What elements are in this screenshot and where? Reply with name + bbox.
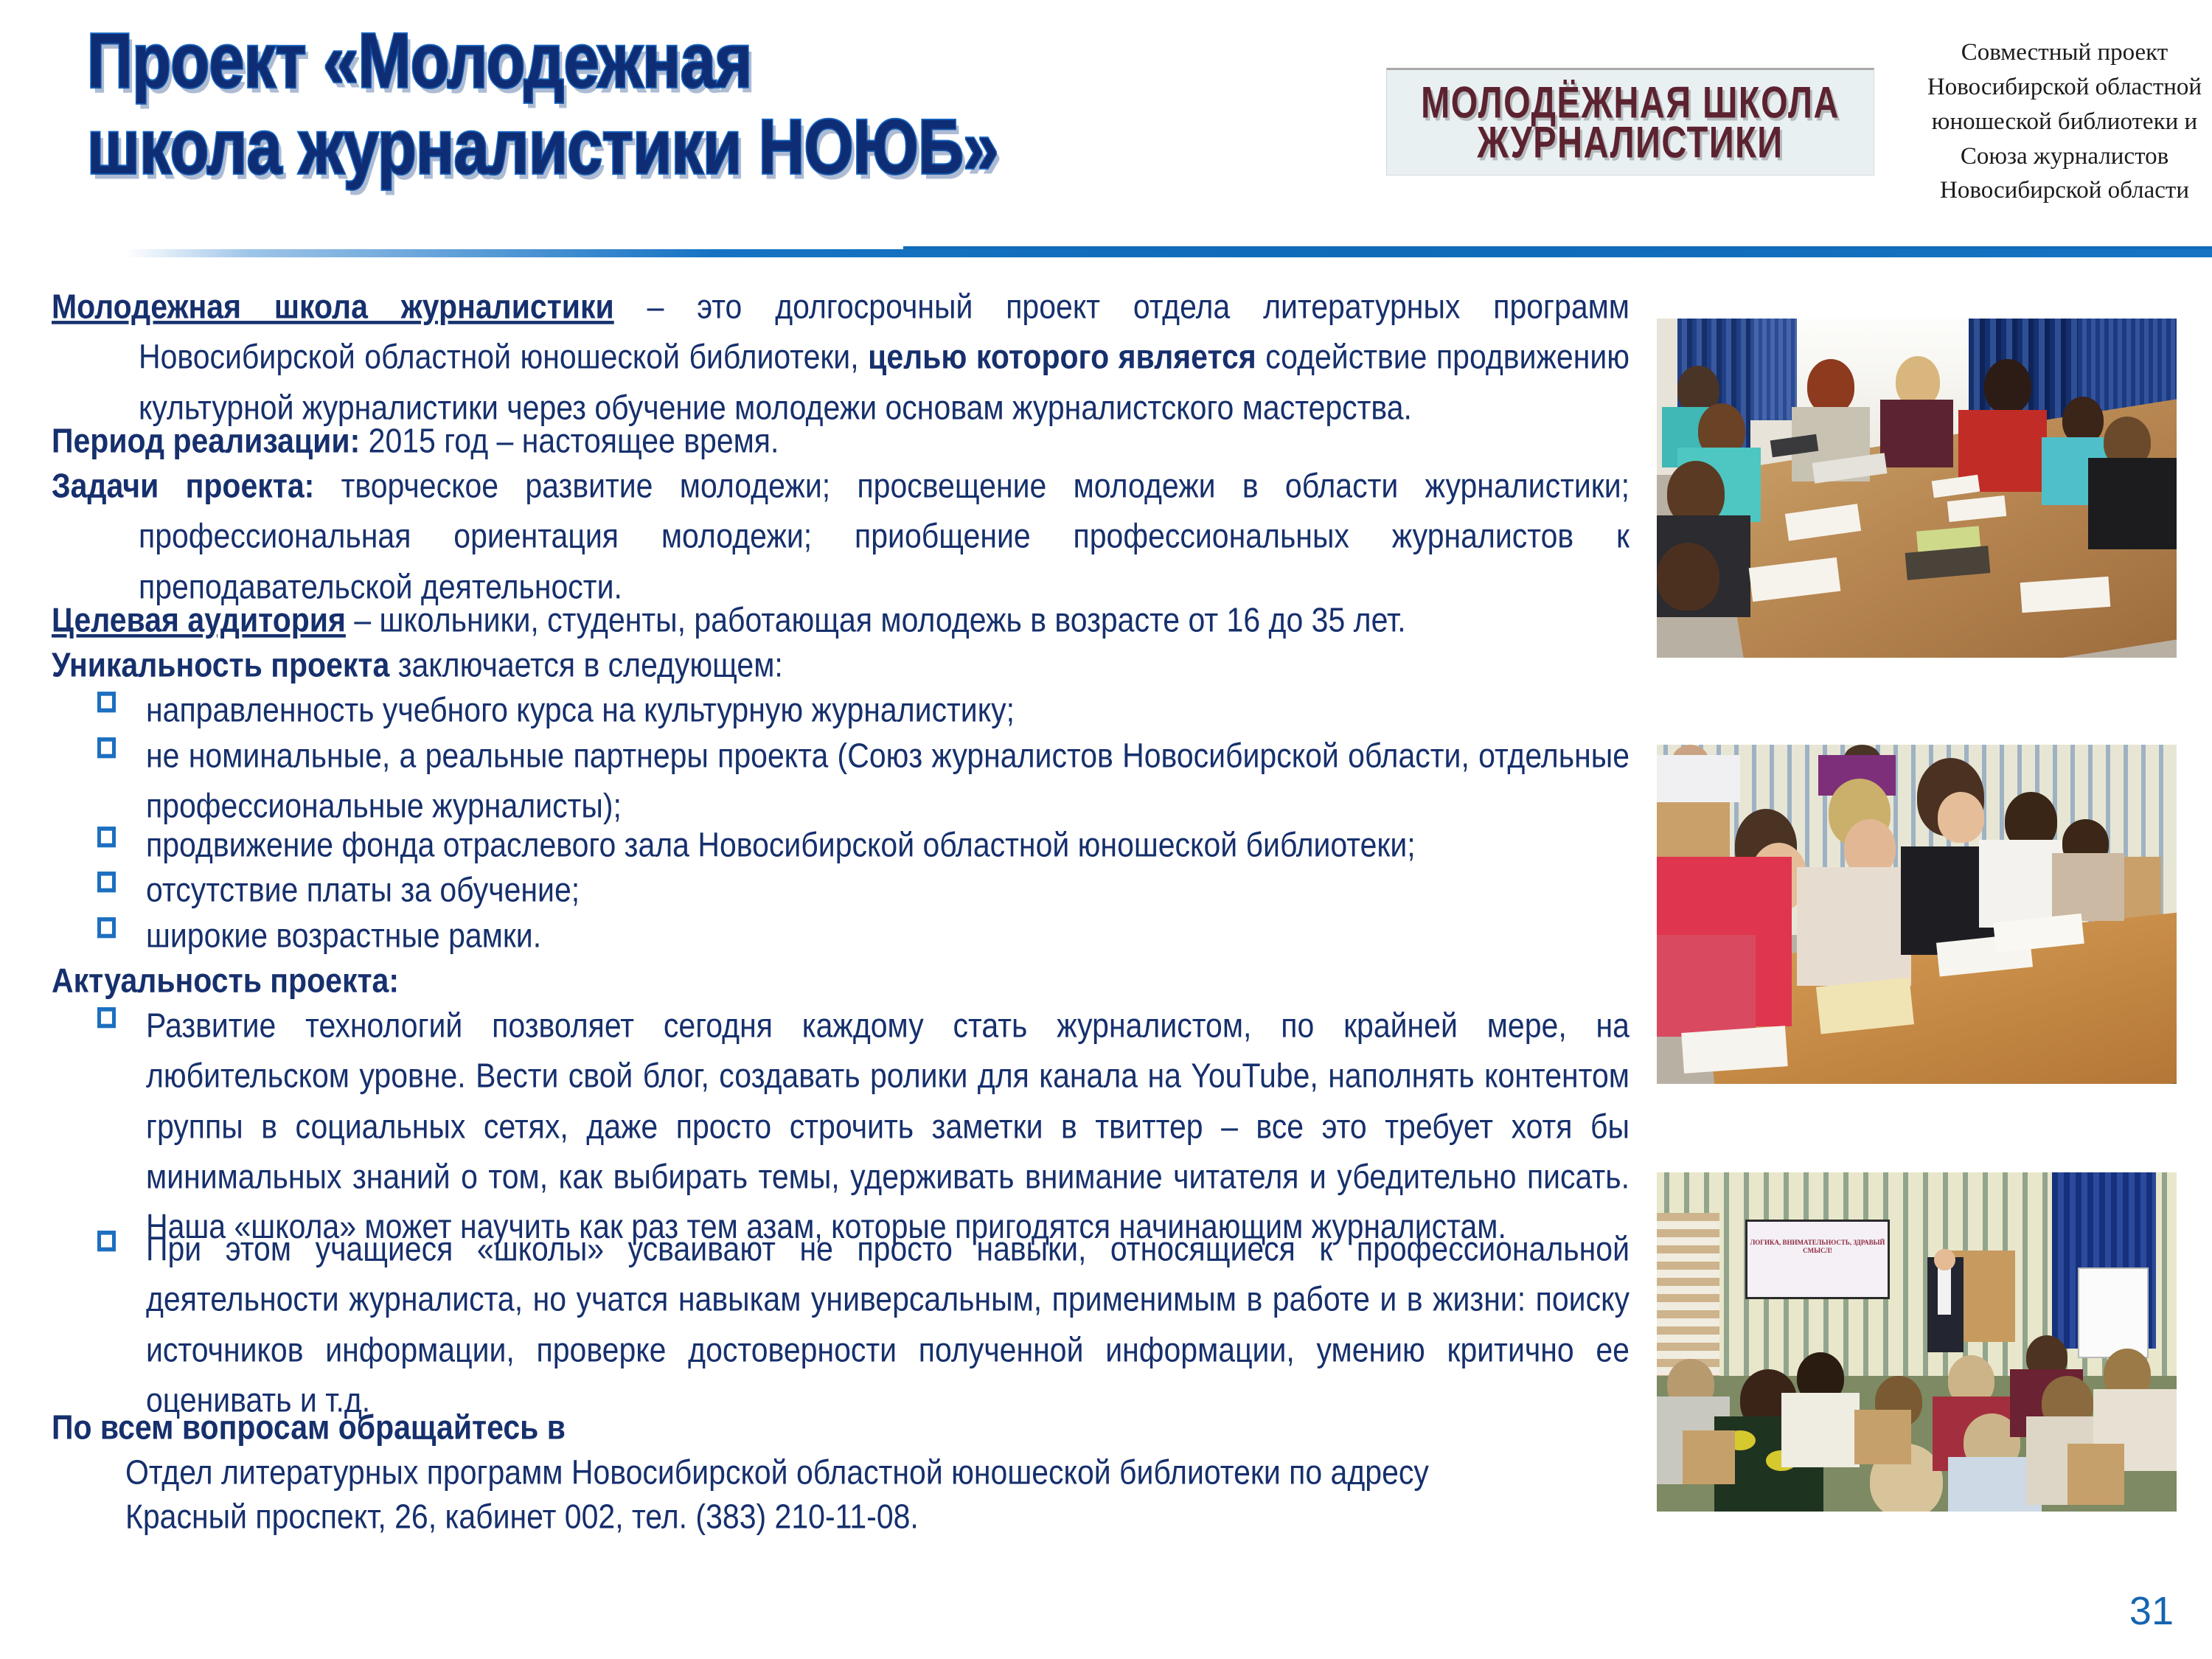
square-bullet-icon [97, 917, 116, 938]
paragraph-period: Период реализации: 2015 год – настоящее … [52, 416, 1630, 466]
paragraph-contact-heading: По всем вопросам обращайтесь в [52, 1402, 1630, 1453]
relevance-bullet-list: Развитие технологий позволяет сегодня ка… [52, 1001, 1630, 1401]
intro-lead: Молодежная школа журналистики [52, 288, 614, 326]
contact-address-line-1: Отдел литературных программ Новосибирско… [52, 1447, 1630, 1498]
square-bullet-icon [97, 1231, 116, 1251]
logo-caption: Совместный проект Новосибирской областно… [1917, 35, 2212, 208]
photo-screen-text: ЛОГИКА, ВНИМАТЕЛЬНОСТЬ, ЗДРАВЫЙ СМЫСЛ! [1747, 1239, 1888, 1256]
list-item: не номинальные, а реальные партнеры прое… [52, 731, 1630, 831]
audience-text: – школьники, студенты, работающая молоде… [346, 601, 1406, 639]
list-item: продвижение фонда отраслевого зала Новос… [52, 820, 1630, 870]
square-bullet-icon [97, 692, 116, 712]
period-lead: Период реализации: [52, 422, 360, 460]
square-bullet-icon [97, 872, 116, 892]
header-divider [125, 249, 2212, 257]
list-item-label: не номинальные, а реальные партнеры прое… [146, 737, 1630, 825]
paragraph-intro: Молодежная школа журналистики – это долг… [52, 282, 1630, 432]
square-bullet-icon [97, 737, 116, 758]
list-item-label: Развитие технологий позволяет сегодня ка… [146, 1006, 1630, 1245]
intro-bold: целью которого является [868, 338, 1256, 376]
project-logo: МОЛОДЁЖНАЯ ШКОЛА ЖУРНАЛИСТИКИ [1386, 68, 1874, 175]
relevance-lead: Актуальность проекта: [52, 961, 399, 1000]
contact-address-line-2: Красный проспект, 26, кабинет 002, тел. … [52, 1492, 1630, 1542]
period-text: 2015 год – настоящее время. [360, 422, 779, 460]
tasks-text: творческое развитие молодежи; просвещени… [139, 467, 1630, 605]
square-bullet-icon [97, 1007, 116, 1028]
logo-line-2: ЖУРНАЛИСТИКИ [1477, 116, 1783, 167]
list-item-label: отсутствие платы за обучение; [146, 871, 580, 909]
paragraph-tasks: Задачи проекта: творческое развитие моло… [52, 461, 1630, 611]
photo-students-writing [1657, 745, 2177, 1084]
list-item: направленность учебного курса на культур… [52, 685, 1630, 735]
list-item-label: продвижение фонда отраслевого зала Новос… [146, 826, 1416, 864]
tasks-lead: Задачи проекта: [52, 467, 314, 505]
contact-lead: По всем вопросам обращайтесь в [52, 1408, 566, 1447]
page-title: Проект «Молодежная школа журналистики НО… [87, 18, 1355, 191]
list-item: При этом учащиеся «школы» усваивают не п… [52, 1224, 1630, 1425]
square-bullet-icon [97, 827, 116, 847]
uniqueness-lead: Уникальность проекта [52, 646, 389, 684]
page-number: 31 [2129, 1588, 2174, 1634]
photo-lecture-hall: ЛОГИКА, ВНИМАТЕЛЬНОСТЬ, ЗДРАВЫЙ СМЫСЛ! [1657, 1172, 2177, 1512]
uniqueness-bullet-list: направленность учебного курса на культур… [52, 685, 1630, 955]
uniqueness-text: заключается в следующем: [389, 646, 783, 684]
photo-round-table [1657, 319, 2177, 658]
slide-header: Проект «Молодежная школа журналистики НО… [0, 0, 2212, 260]
list-item: широкие возрастные рамки. [52, 911, 1630, 961]
list-item: Развитие технологий позволяет сегодня ка… [52, 1001, 1630, 1252]
list-item-label: При этом учащиеся «школы» усваивают не п… [146, 1229, 1630, 1418]
audience-lead: Целевая аудитория [52, 601, 346, 639]
paragraph-audience: Целевая аудитория – школьники, студенты,… [52, 595, 1630, 645]
paragraph-uniqueness: Уникальность проекта заключается в следу… [52, 640, 1630, 690]
slide-body: Молодежная школа журналистики – это долг… [52, 282, 1630, 1536]
paragraph-relevance-heading: Актуальность проекта: [52, 956, 1630, 1006]
list-item: отсутствие платы за обучение; [52, 865, 1630, 915]
list-item-label: широкие возрастные рамки. [146, 917, 541, 955]
list-item-label: направленность учебного курса на культур… [146, 691, 1015, 729]
